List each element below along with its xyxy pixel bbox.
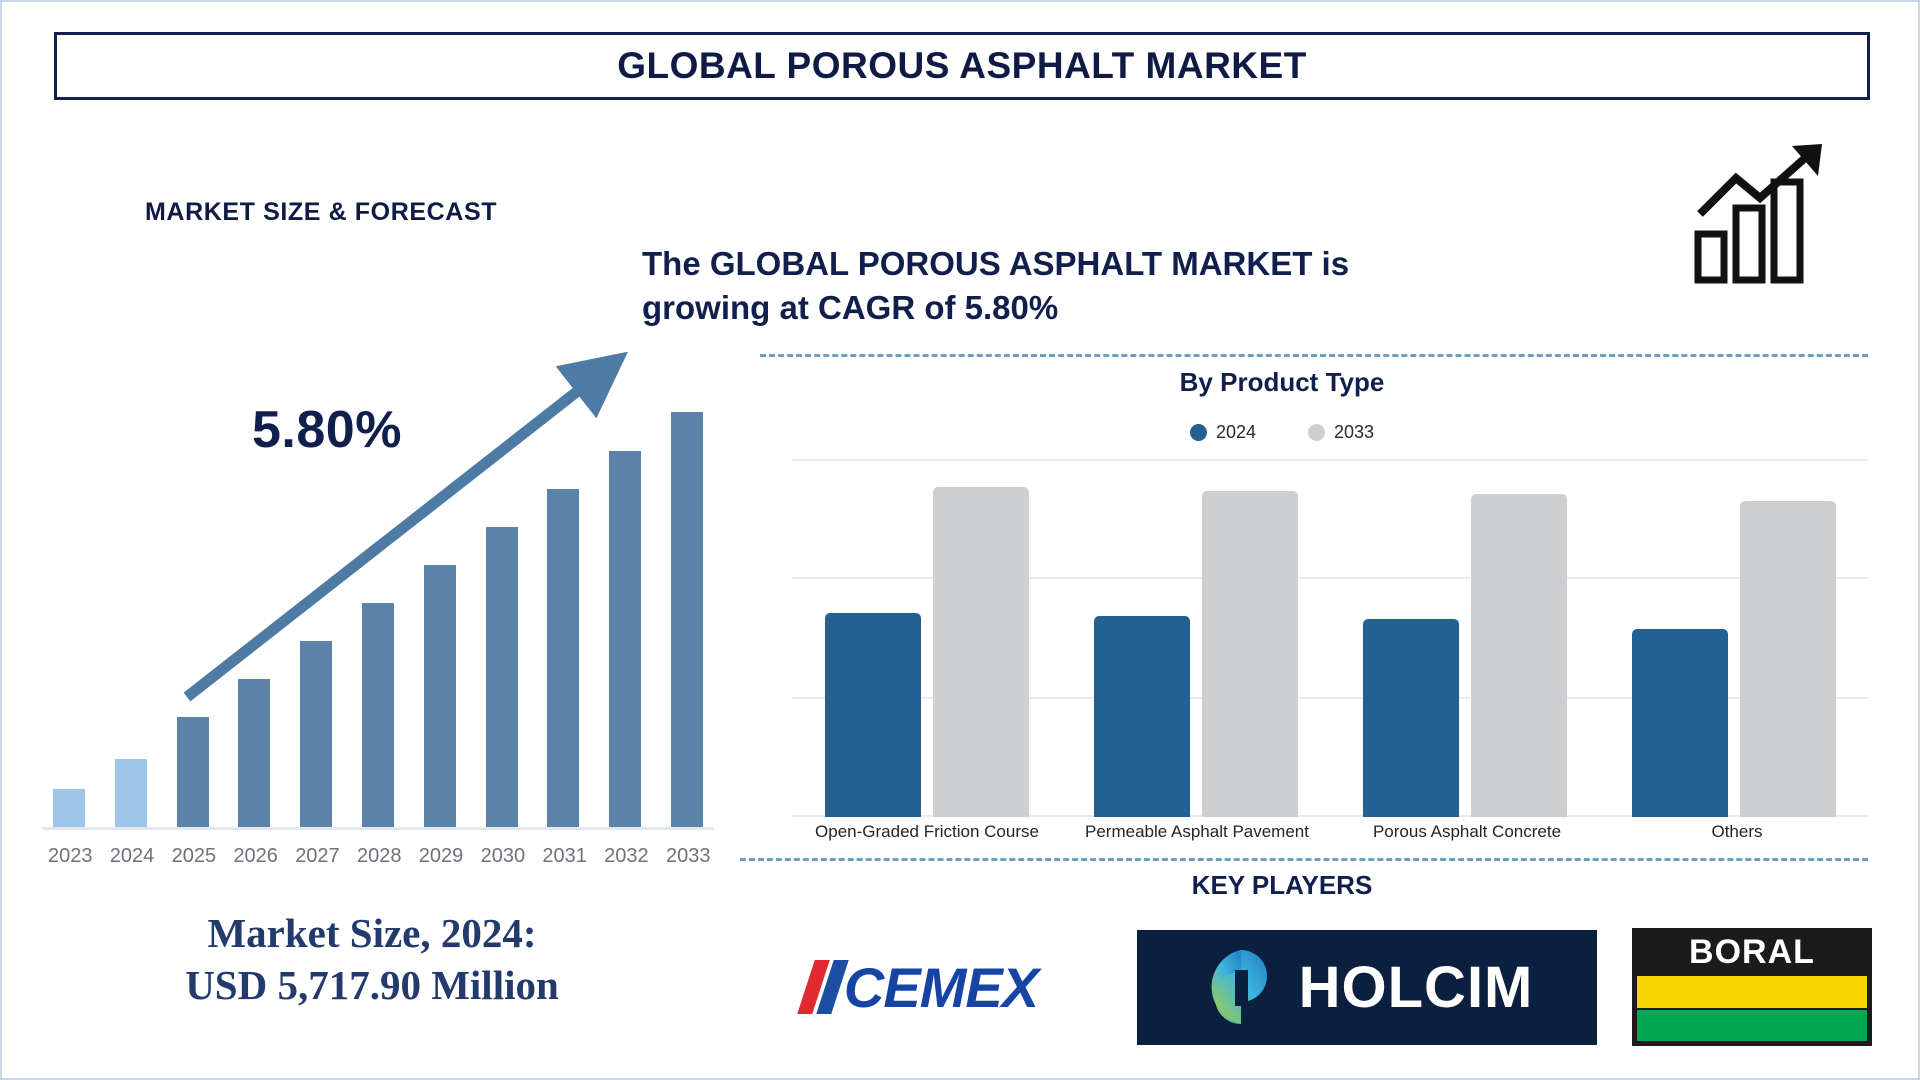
bar-column [48, 387, 90, 827]
cagr-headline: The GLOBAL POROUS ASPHALT MARKET is grow… [642, 242, 1642, 330]
year-label: 2033 [666, 845, 708, 868]
bar-column [295, 387, 337, 827]
market-size-line-2: USD 5,717.90 Million [2, 959, 742, 1011]
holcim-mark-icon [1201, 946, 1281, 1028]
market-size-line-1: Market Size, 2024: [2, 907, 742, 959]
legend-item-2033: 2033 [1308, 422, 1374, 443]
year-label: 2029 [419, 845, 461, 868]
product-group-others [1632, 457, 1836, 817]
year-label: 2031 [542, 845, 584, 868]
bar-2024 [115, 759, 147, 827]
by-product-type-title: By Product Type [1002, 367, 1562, 398]
bar-column [419, 387, 461, 827]
logo-boral: BORAL [1632, 928, 1872, 1046]
bar-2032 [609, 451, 641, 827]
product-type-groups [792, 457, 1868, 817]
logo-cemex: CEMEX [742, 937, 1102, 1037]
market-size-bars [48, 387, 708, 827]
bar-2024-porous-concrete [1363, 619, 1459, 817]
bar-column [666, 387, 708, 827]
market-size-2024-block: Market Size, 2024: USD 5,717.90 Million [2, 907, 742, 1012]
bar-2033-open-graded [933, 487, 1029, 817]
bar-2024-others [1632, 629, 1728, 817]
year-axis-labels: 2023 2024 2025 2026 2027 2028 2029 2030 … [48, 845, 708, 868]
legend-swatch-icon [1190, 424, 1207, 441]
bar-2027 [300, 641, 332, 827]
product-group-porous-concrete [1363, 457, 1567, 817]
cagr-headline-line-1: The GLOBAL POROUS ASPHALT MARKET is [642, 242, 1642, 286]
page-title: GLOBAL POROUS ASPHALT MARKET [617, 45, 1307, 87]
product-label: Others [1607, 822, 1867, 842]
infographic-page: GLOBAL POROUS ASPHALT MARKET MARKET SIZE… [0, 0, 1920, 1080]
bar-2033 [671, 412, 703, 827]
legend-swatch-icon [1308, 424, 1325, 441]
market-size-forecast-label: MARKET SIZE & FORECAST [145, 198, 497, 227]
year-label: 2030 [481, 845, 523, 868]
product-group-permeable [1094, 457, 1298, 817]
legend-item-2024: 2024 [1190, 422, 1256, 443]
bar-column [110, 387, 152, 827]
product-type-axis-labels: Open-Graded Friction Course Permeable As… [792, 822, 1872, 842]
bar-2028 [362, 603, 394, 827]
bar-column [542, 387, 584, 827]
legend-label: 2024 [1216, 422, 1256, 443]
market-size-bar-chart: 2023 2024 2025 2026 2027 2028 2029 2030 … [22, 372, 722, 862]
boral-green-band [1637, 1010, 1867, 1041]
cagr-headline-line-2: growing at CAGR of 5.80% [642, 286, 1642, 330]
product-label: Permeable Asphalt Pavement [1067, 822, 1327, 842]
year-label: 2025 [172, 845, 214, 868]
boral-wordmark: BORAL [1637, 933, 1867, 974]
bar-2033-porous-concrete [1471, 494, 1567, 817]
chart-legend: 2024 2033 [1002, 422, 1562, 443]
bar-2024-open-graded [825, 613, 921, 817]
x-axis-line [42, 827, 714, 830]
divider-middle [740, 858, 1868, 861]
year-label: 2032 [604, 845, 646, 868]
bar-2023 [53, 789, 85, 827]
bar-column [233, 387, 275, 827]
divider-top [760, 354, 1868, 357]
year-label: 2028 [357, 845, 399, 868]
bar-2030 [486, 527, 518, 827]
bar-column [357, 387, 399, 827]
product-label: Porous Asphalt Concrete [1337, 822, 1597, 842]
bar-2033-permeable [1202, 491, 1298, 817]
year-label: 2026 [233, 845, 275, 868]
key-players-title: KEY PLAYERS [1002, 870, 1562, 901]
bar-2029 [424, 565, 456, 827]
logo-holcim: HOLCIM [1137, 930, 1597, 1045]
legend-label: 2033 [1334, 422, 1374, 443]
holcim-wordmark: HOLCIM [1299, 954, 1534, 1021]
boral-yellow-band [1637, 976, 1867, 1007]
by-product-type-chart [772, 457, 1872, 817]
year-label: 2023 [48, 845, 90, 868]
growth-arrow-bars-icon [1692, 142, 1832, 287]
page-title-box: GLOBAL POROUS ASPHALT MARKET [54, 32, 1870, 100]
bar-2031 [547, 489, 579, 827]
product-group-open-graded [825, 457, 1029, 817]
bar-column [604, 387, 646, 827]
bar-2025 [177, 717, 209, 827]
cemex-wordmark: CEMEX [844, 955, 1038, 1020]
bar-2026 [238, 679, 270, 827]
key-players-logos: CEMEX HOLCIM BORAL [742, 927, 1872, 1047]
cemex-slashes-icon [806, 960, 840, 1014]
bar-2024-permeable [1094, 616, 1190, 817]
bar-column [481, 387, 523, 827]
year-label: 2027 [295, 845, 337, 868]
bar-column [172, 387, 214, 827]
bar-2033-others [1740, 501, 1836, 817]
product-label: Open-Graded Friction Course [797, 822, 1057, 842]
year-label: 2024 [110, 845, 152, 868]
